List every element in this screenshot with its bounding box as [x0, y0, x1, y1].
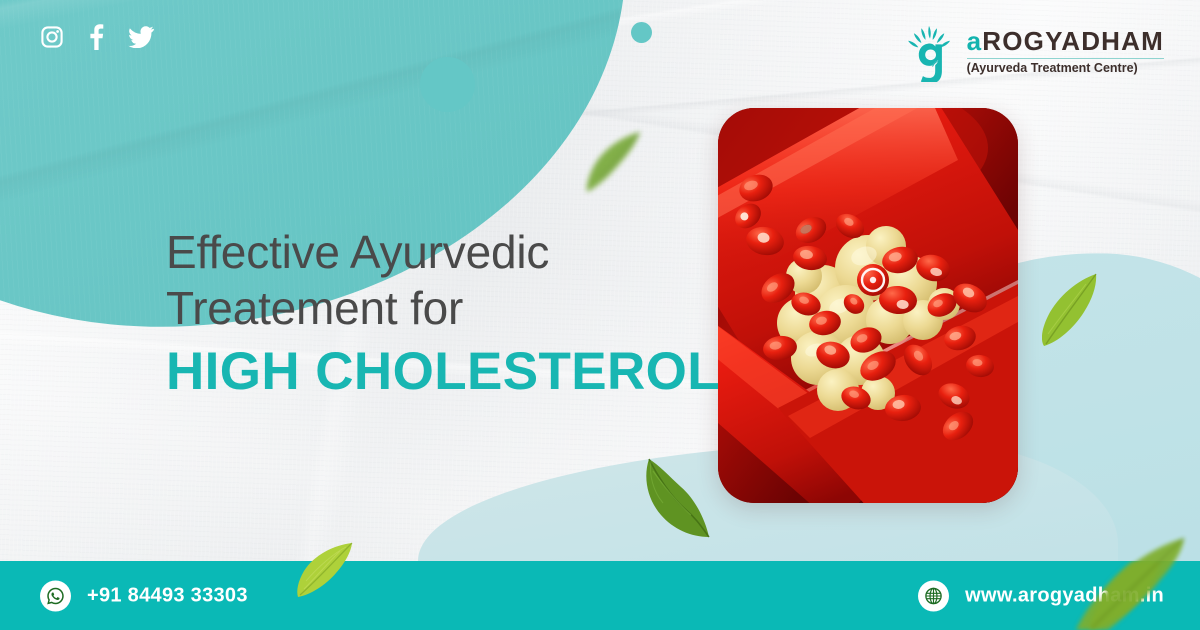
whatsapp-icon — [40, 580, 71, 611]
brand-logo[interactable]: aROGYADHAM (Ayurveda Treatment Centre) — [901, 20, 1164, 82]
headline-line-2: Treatement for — [166, 280, 720, 336]
artery-photo-card — [718, 108, 1018, 503]
leaf-bottom-right — [1084, 536, 1190, 630]
headline: Effective Ayurvedic Treatement for HIGH … — [166, 224, 720, 404]
social-links — [40, 24, 154, 50]
logo-divider — [967, 58, 1164, 59]
footer-phone-text: +91 84493 33303 — [87, 584, 248, 607]
teal-dot-small — [631, 22, 652, 43]
footer-phone[interactable]: +91 84493 33303 — [40, 580, 248, 611]
globe-icon — [918, 580, 949, 611]
twitter-icon[interactable] — [128, 26, 154, 48]
headline-line-3-highlight: HIGH CHOLESTEROL — [166, 341, 720, 404]
leaf-blurred-center — [584, 126, 646, 196]
headline-line-1: Effective Ayurvedic — [166, 224, 720, 280]
logo-wordmark: aROGYADHAM — [967, 28, 1164, 54]
artery-illustration — [718, 108, 1018, 503]
logo-word-rest: ROGYADHAM — [982, 26, 1164, 56]
leaf-right-midblue — [1042, 272, 1100, 348]
instagram-icon[interactable] — [40, 25, 64, 49]
logo-word-accent: a — [967, 26, 983, 56]
leaf-yellow-bottom-left — [294, 541, 356, 599]
teal-dot-large — [420, 57, 475, 112]
arogyadham-leaf-a-icon — [901, 20, 957, 82]
logo-tagline: (Ayurveda Treatment Centre) — [967, 62, 1138, 75]
leaf-sharp-center-bottom — [637, 455, 729, 541]
footer-bar: +91 84493 33303 www.arogyadham.in — [0, 561, 1200, 630]
facebook-icon[interactable] — [88, 24, 104, 50]
promo-banner: aROGYADHAM (Ayurveda Treatment Centre) E… — [0, 0, 1200, 630]
